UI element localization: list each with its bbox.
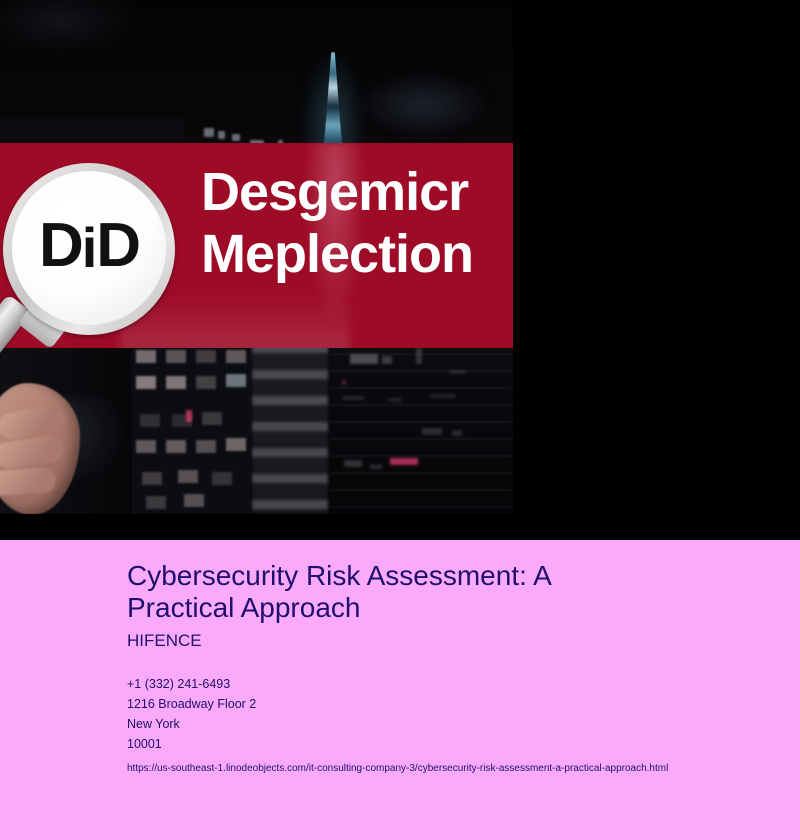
did-logo-mid: i [82, 217, 97, 279]
right-building-field [330, 336, 513, 514]
page-title: Cybersecurity Risk Assessment: A Practic… [127, 560, 647, 624]
magnifier-lens: DiD [12, 171, 166, 325]
magnifying-glass-icon: DiD [3, 163, 188, 363]
article-info-content: Cybersecurity Risk Assessment: A Practic… [127, 560, 767, 778]
article-url[interactable]: https://us-southeast-1.linodeobjects.com… [127, 760, 767, 778]
night-haze [356, 72, 491, 138]
contact-zip: 10001 [127, 734, 767, 754]
magnifier-ring: DiD [3, 163, 175, 335]
company-name: HIFENCE [127, 630, 767, 652]
article-info-panel: Cybersecurity Risk Assessment: A Practic… [0, 540, 800, 840]
contact-city: New York [127, 714, 767, 734]
concrete-slab-building [252, 344, 328, 514]
banner-headline-line2: Meplection [201, 223, 513, 285]
did-logo-left: D [39, 211, 82, 280]
window-grid-building [132, 348, 250, 514]
banner-headline-line1: Desgemicr [201, 161, 513, 223]
article-hero-image: Desgemicr Meplection DiD [0, 0, 800, 540]
contact-phone: +1 (332) 241-6493 [127, 674, 767, 694]
did-logo-right: D [96, 211, 139, 280]
contact-street: 1216 Broadway Floor 2 [127, 694, 767, 714]
did-logo: DiD [39, 215, 139, 278]
hero-photo: Desgemicr Meplection DiD [0, 0, 513, 514]
